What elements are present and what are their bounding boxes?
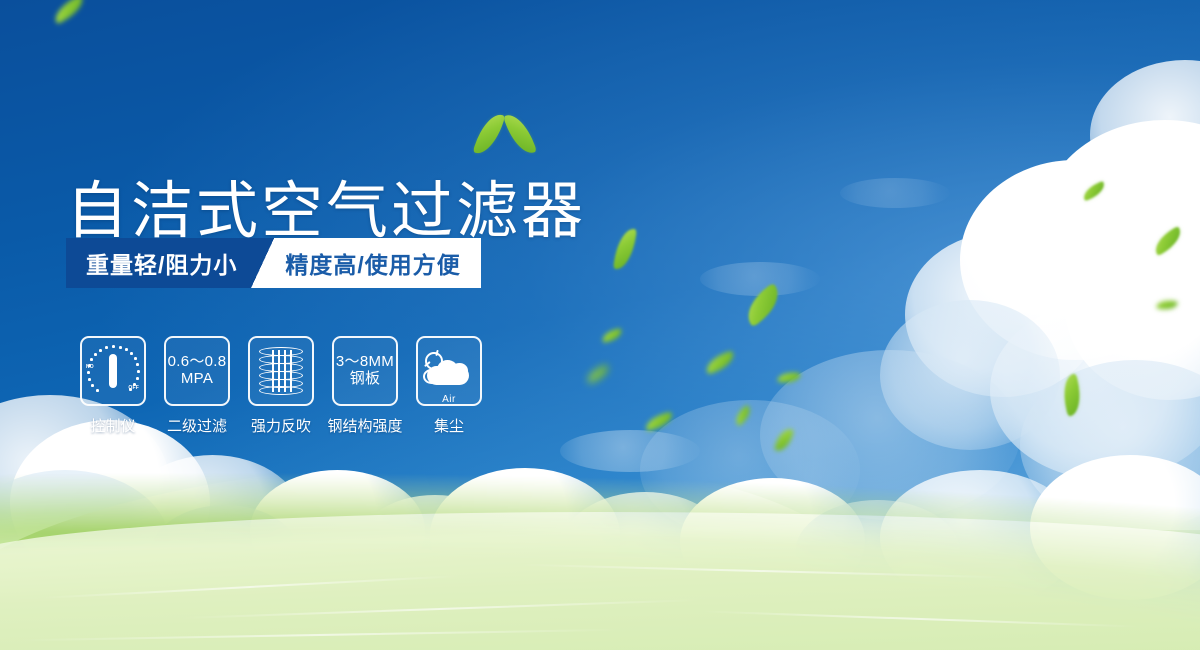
feature-item-control[interactable]: NO OFF	[80, 336, 146, 436]
banner-content: 自洁式空气过滤器 重量轻/阻力小 精度高/使用方便 NO OFF	[0, 0, 1200, 650]
feature-caption: 集尘	[434, 415, 464, 436]
gauge-needle	[109, 354, 117, 388]
feature-item-dust[interactable]: Air 集尘	[416, 336, 482, 436]
hero-banner: 自洁式空气过滤器 重量轻/阻力小 精度高/使用方便 NO OFF	[0, 0, 1200, 650]
air-label: Air	[423, 394, 475, 405]
feature-caption: 强力反吹	[251, 415, 311, 436]
tagline-left: 重量轻/阻力小	[66, 238, 259, 288]
page-title: 自洁式空气过滤器	[66, 181, 586, 243]
thickness-value: 3～8MM	[336, 354, 394, 371]
feature-caption: 控制仪	[90, 415, 135, 436]
feature-icon-box	[248, 336, 314, 406]
pressure-value: 0.6～0.8	[168, 354, 227, 371]
cloud-air-icon: Air	[423, 351, 475, 391]
feature-icon-box: 3～8MM 钢板	[332, 336, 398, 406]
feature-item-backblow[interactable]: 强力反吹	[248, 336, 314, 436]
feature-icon-box: 0.6～0.8 MPA	[164, 336, 230, 406]
pressure-unit: MPA	[181, 371, 213, 388]
feature-item-thickness[interactable]: 3～8MM 钢板 钢结构强度	[332, 336, 398, 436]
tagline-ribbon: 重量轻/阻力小 精度高/使用方便	[66, 238, 481, 288]
coil-icon	[259, 347, 303, 395]
tagline-right: 精度高/使用方便	[269, 238, 480, 288]
gauge-icon: NO OFF	[87, 345, 139, 397]
thickness-material: 钢板	[350, 371, 381, 388]
feature-caption: 二级过滤	[167, 415, 227, 436]
feature-caption: 钢结构强度	[328, 415, 403, 436]
feature-list: NO OFF	[80, 336, 482, 436]
feature-icon-box: Air	[416, 336, 482, 406]
feature-icon-box: NO OFF	[80, 336, 146, 406]
feature-item-pressure[interactable]: 0.6～0.8 MPA 二级过滤	[164, 336, 230, 436]
